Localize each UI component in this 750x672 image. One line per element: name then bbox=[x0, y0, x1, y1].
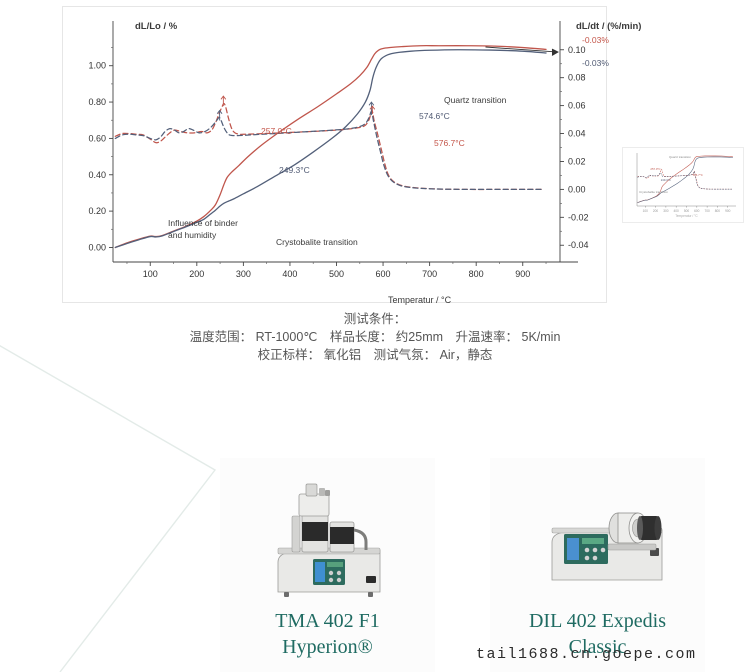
svg-text:-0.04: -0.04 bbox=[568, 240, 589, 250]
svg-text:1.00: 1.00 bbox=[88, 61, 106, 71]
chart-annotation-influence2: and humidity bbox=[168, 230, 216, 240]
chart-plot-area: 0.000.200.400.600.801.00-0.04-0.020.000.… bbox=[63, 7, 606, 302]
svg-text:0.02: 0.02 bbox=[568, 156, 586, 166]
dil-402-expedis-classic-instrument-photo bbox=[490, 470, 705, 602]
site-watermark: tail1688.cn.goepe.com bbox=[476, 646, 697, 663]
svg-text:0.08: 0.08 bbox=[568, 73, 586, 83]
svg-text:Quartz transition: Quartz transition bbox=[669, 155, 691, 159]
svg-text:600: 600 bbox=[694, 209, 700, 213]
chart-annotation-influence: Influence of binder bbox=[168, 218, 238, 228]
svg-text:800: 800 bbox=[715, 209, 721, 213]
chart-thumbnail[interactable]: 100200300400500600700800900Temperatur / … bbox=[622, 147, 744, 223]
svg-text:100: 100 bbox=[643, 209, 649, 213]
svg-text:200: 200 bbox=[189, 269, 204, 279]
chart-series-dl-dt-sample-b bbox=[115, 112, 541, 190]
chart-thumbnail-image: 100200300400500600700800900Temperatur / … bbox=[623, 148, 743, 222]
dilatometry-chart-panel: 0.000.200.400.600.801.00-0.04-0.020.000.… bbox=[62, 6, 607, 303]
svg-text:0.40: 0.40 bbox=[88, 170, 106, 180]
svg-text:0.00: 0.00 bbox=[88, 242, 106, 252]
product-title-line-1: DIL 402 Expedis bbox=[529, 610, 666, 632]
product-card-dil-402-expedis-classic[interactable]: DIL 402 Expedis Classic bbox=[490, 458, 705, 672]
product-title-tma-402-f1-hyperion: TMA 402 F1 Hyperion® bbox=[220, 608, 435, 660]
svg-text:800: 800 bbox=[469, 269, 484, 279]
svg-text:100: 100 bbox=[143, 269, 158, 279]
chart-annotation-quartz: Quartz transition bbox=[444, 95, 506, 105]
svg-text:257.0°C: 257.0°C bbox=[650, 167, 660, 171]
caption-line-1: 测试条件： bbox=[0, 310, 750, 328]
chart-annotation-peak-249: 249.3°C bbox=[279, 165, 310, 175]
svg-text:700: 700 bbox=[422, 269, 437, 279]
svg-text:300: 300 bbox=[236, 269, 251, 279]
svg-text:0.00: 0.00 bbox=[568, 184, 586, 194]
y-axis-left-title: dL/Lo / % bbox=[135, 21, 177, 32]
svg-text:0.04: 0.04 bbox=[568, 129, 586, 139]
svg-text:900: 900 bbox=[515, 269, 530, 279]
svg-text:249.3°C: 249.3°C bbox=[661, 178, 671, 182]
svg-text:0.10: 0.10 bbox=[568, 45, 586, 55]
svg-text:500: 500 bbox=[329, 269, 344, 279]
svg-text:0.80: 0.80 bbox=[88, 97, 106, 107]
svg-text:0.20: 0.20 bbox=[88, 206, 106, 216]
test-conditions-caption: 测试条件： 温度范围： RT-1000℃ 样品长度： 约25mm 升温速率： 5… bbox=[0, 310, 750, 364]
svg-text:Temperatur / °C: Temperatur / °C bbox=[675, 214, 698, 218]
svg-text:200: 200 bbox=[653, 209, 659, 213]
chart-annotation-end-red: -0.03% bbox=[582, 35, 609, 45]
tma-402-f1-hyperion-instrument-photo bbox=[220, 470, 435, 602]
svg-text:600: 600 bbox=[376, 269, 391, 279]
chart-series-dl-dt-sample-a bbox=[115, 104, 541, 190]
svg-text:576.7°C: 576.7°C bbox=[693, 173, 703, 177]
product-card-list: TMA 402 F1 Hyperion® bbox=[0, 458, 750, 672]
chart-annotation-end-blue: -0.03% bbox=[582, 58, 609, 68]
svg-text:500: 500 bbox=[684, 209, 690, 213]
svg-text:900: 900 bbox=[725, 209, 731, 213]
svg-text:-0.02: -0.02 bbox=[568, 212, 589, 222]
svg-text:700: 700 bbox=[704, 209, 710, 213]
caption-line-2: 温度范围： RT-1000℃ 样品长度： 约25mm 升温速率： 5K/min bbox=[0, 328, 750, 346]
svg-text:400: 400 bbox=[282, 269, 297, 279]
chart-annotation-peak-576: 576.7°C bbox=[434, 138, 465, 148]
product-card-tma-402-f1-hyperion[interactable]: TMA 402 F1 Hyperion® bbox=[220, 458, 435, 672]
svg-text:400: 400 bbox=[674, 209, 680, 213]
product-title-line-1: TMA 402 F1 bbox=[275, 610, 379, 632]
svg-text:0.60: 0.60 bbox=[88, 133, 106, 143]
caption-line-3: 校正标样： 氧化铝 测试气氛： Air，静态 bbox=[0, 346, 750, 364]
page-root: 0.000.200.400.600.801.00-0.04-0.020.000.… bbox=[0, 0, 750, 672]
svg-text:Crystobalite transition: Crystobalite transition bbox=[639, 190, 668, 194]
chart-annotation-crystobalite: Crystobalite transition bbox=[276, 237, 358, 247]
y-axis-right-title: dL/dt / (%/min) bbox=[576, 21, 641, 32]
chart-annotation-peak-574: 574.6°C bbox=[419, 111, 450, 121]
svg-text:0.06: 0.06 bbox=[568, 101, 586, 111]
chart-annotation-peak-257: 257.0°C bbox=[261, 126, 292, 136]
svg-text:300: 300 bbox=[663, 209, 669, 213]
x-axis-title: Temperatur / °C bbox=[388, 295, 451, 305]
product-title-line-2: Hyperion® bbox=[282, 636, 373, 658]
